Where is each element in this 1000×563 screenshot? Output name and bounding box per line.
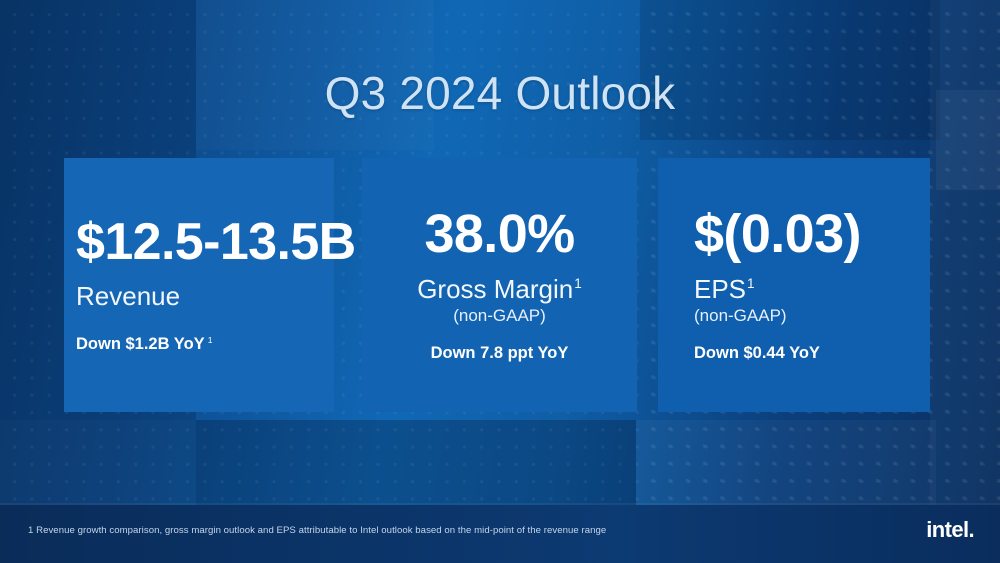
metric-label-text: Revenue (76, 281, 180, 311)
footnote-text: 1 Revenue growth comparison, gross margi… (28, 525, 606, 536)
metric-delta-revenue: Down $1.2B YoY1 (76, 335, 312, 354)
metric-delta-text: Down 7.8 ppt YoY (431, 344, 569, 362)
metric-label-text: Gross Margin (417, 274, 573, 304)
metric-value-revenue: $12.5-13.5B (76, 216, 312, 269)
metric-card-eps: $(0.03) EPS1 (non-GAAP) Down $0.44 YoY (658, 158, 930, 412)
metric-label-eps: EPS1 (694, 274, 908, 305)
intel-logo: intel. (926, 517, 974, 543)
bottom-band-divider (0, 503, 1000, 505)
metric-card-gross-margin: 38.0% Gross Margin1 (non-GAAP) Down 7.8 … (362, 158, 637, 412)
footnote-marker: 1 (747, 276, 755, 291)
metric-sub-eps: (non-GAAP) (694, 306, 908, 326)
metric-value-eps: $(0.03) (694, 207, 908, 262)
metric-delta-text: Down $0.44 YoY (694, 344, 820, 362)
metric-value-gross-margin: 38.0% (370, 207, 629, 262)
metric-delta-eps: Down $0.44 YoY (694, 344, 908, 363)
metric-delta-gross-margin: Down 7.8 ppt YoY (370, 344, 629, 363)
bg-panel-lower-left-light (0, 420, 196, 510)
metric-label-gross-margin: Gross Margin1 (370, 274, 629, 305)
slide-root: Q3 2024 Outlook $12.5-13.5B Revenue Down… (0, 0, 1000, 563)
metric-label-text: EPS (694, 274, 746, 304)
bg-panel-mid-band (196, 420, 636, 515)
page-title: Q3 2024 Outlook (0, 66, 1000, 120)
metric-card-revenue: $12.5-13.5B Revenue Down $1.2B YoY1 (64, 158, 334, 412)
metric-delta-text: Down $1.2B YoY (76, 335, 205, 353)
bg-panel-center-light (636, 420, 936, 510)
footnote-marker: 1 (208, 335, 213, 345)
metric-sub-gross-margin: (non-GAAP) (370, 306, 629, 326)
footnote-marker: 1 (574, 276, 582, 291)
metric-label-revenue: Revenue (76, 281, 312, 312)
